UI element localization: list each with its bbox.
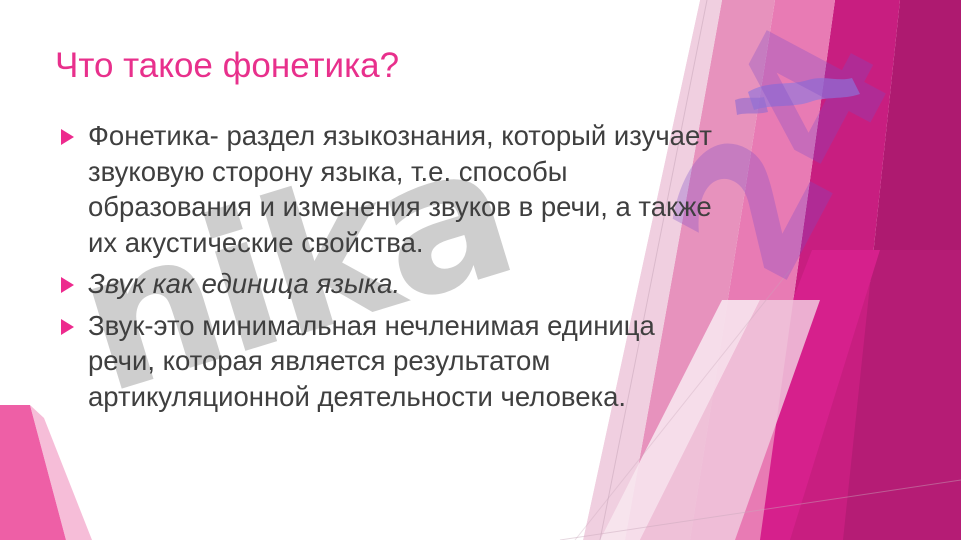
list-item: Звук-это минимальная нечленимая единица … bbox=[55, 308, 715, 415]
band-deep-magenta-lower bbox=[790, 250, 961, 540]
triangle-bullet-icon bbox=[61, 129, 74, 145]
band-deep-magenta-right bbox=[843, 0, 961, 540]
slide-content: Что такое фонетика? Фонетика- раздел язы… bbox=[0, 0, 720, 540]
bullet-text: Фонетика- раздел языкознания, который из… bbox=[88, 118, 715, 260]
triangle-bullet-icon bbox=[61, 319, 74, 335]
band-magenta bbox=[760, 0, 900, 540]
bullet-text: Звук как единица языка. bbox=[88, 266, 715, 302]
list-item: Звук как единица языка. bbox=[55, 266, 715, 302]
bullet-list: Фонетика- раздел языкознания, который из… bbox=[55, 118, 715, 420]
presentation-slide: nika 24 Что такое фонетика? Фонетика- ра… bbox=[0, 0, 961, 540]
bullet-text: Звук-это минимальная нечленимая единица … bbox=[88, 308, 715, 415]
band-magenta-lower bbox=[700, 250, 880, 540]
slide-title: Что такое фонетика? bbox=[55, 46, 399, 86]
purple-brush-accent bbox=[748, 78, 860, 110]
purple-brush-accent-tail bbox=[735, 97, 768, 115]
list-item: Фонетика- раздел языкознания, который из… bbox=[55, 118, 715, 260]
triangle-bullet-icon bbox=[61, 277, 74, 293]
